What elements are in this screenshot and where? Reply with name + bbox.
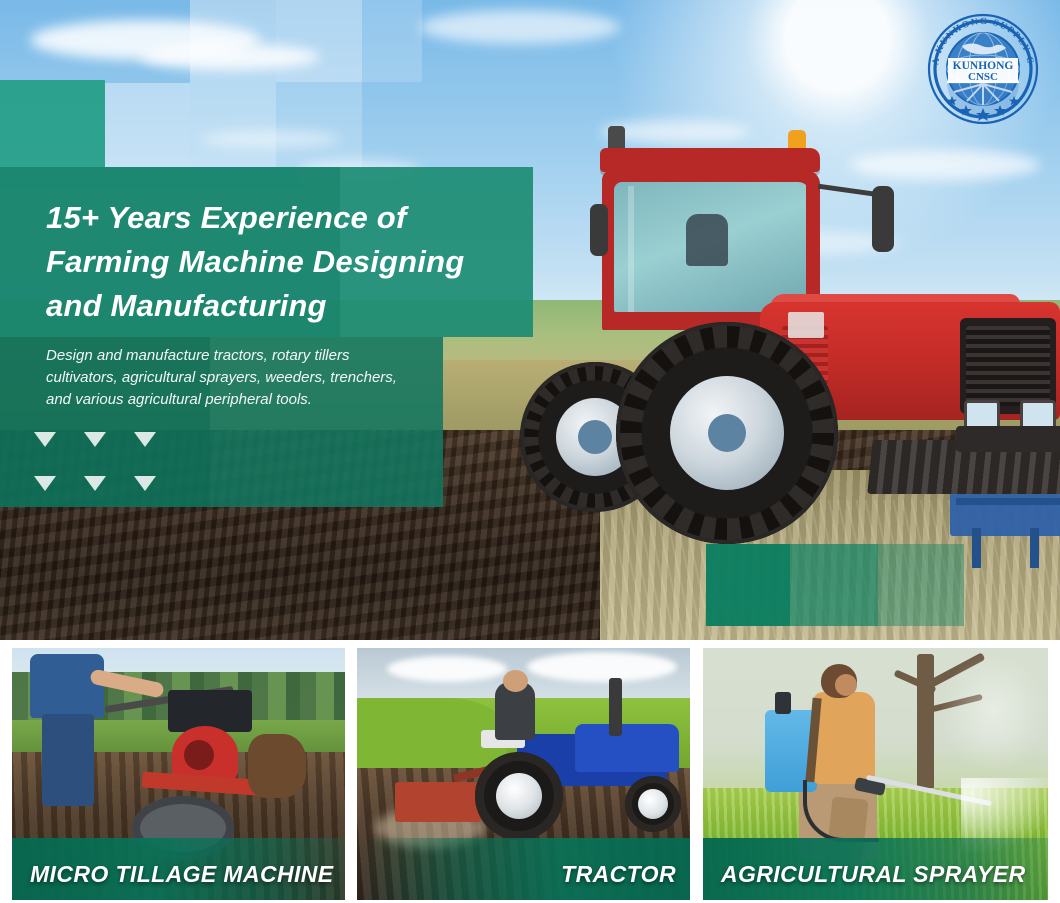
accent-block: [706, 544, 790, 626]
chevron-down-icon: [34, 432, 56, 447]
operator-torso: [813, 692, 875, 784]
cloud: [527, 652, 677, 682]
logo-center-line2: CNSC: [968, 71, 998, 83]
chevron-decoration: [22, 418, 180, 510]
card-caption-text: AGRICULTURAL SPRAYER: [721, 861, 1025, 888]
mosaic-block: [362, 0, 422, 82]
front-wheel: [625, 776, 681, 832]
product-card-micro-tillage-machine[interactable]: MICRO TILLAGE MACHINE: [12, 648, 345, 900]
grille-lines: [966, 326, 1050, 406]
operator-legs: [42, 714, 94, 806]
mosaic-block: [276, 0, 362, 82]
product-card-tractor[interactable]: TRACTOR: [357, 648, 690, 900]
plough-leg: [972, 528, 981, 568]
description-line-1: Design and manufacture tractors, rotary …: [46, 345, 476, 367]
cloud: [420, 10, 620, 44]
mosaic-block: [105, 83, 190, 167]
sprayer-tank-cap: [775, 692, 791, 714]
mosaic-block: [0, 80, 105, 167]
product-card-row: MICRO TILLAGE MACHINE: [0, 648, 1060, 903]
plough-leg: [1030, 528, 1039, 568]
hero-section: 15+ Years Experience of Farming Machine …: [0, 0, 1060, 640]
recoil-starter: [184, 740, 214, 770]
card-caption-text: MICRO TILLAGE MACHINE: [30, 861, 334, 888]
hero-description: Design and manufacture tractors, rotary …: [46, 345, 476, 411]
driver-silhouette: [686, 214, 728, 266]
promo-banner: 15+ Years Experience of Farming Machine …: [0, 0, 1060, 903]
description-line-2: cultivators, agricultural sprayers, weed…: [46, 367, 476, 389]
cloud: [387, 656, 507, 682]
card-caption-text: TRACTOR: [561, 861, 676, 888]
rear-wheel: [475, 752, 563, 840]
front-bumper: [956, 426, 1060, 452]
company-logo: KUNHONG CNSC CHINA KUNHONG SUPPLY CHAIN: [926, 12, 1040, 126]
tractor-hood: [575, 724, 679, 772]
side-mirror: [590, 204, 608, 256]
headline-line-1: 15+ Years Experience of: [46, 196, 566, 240]
tree-trunk: [917, 654, 934, 804]
side-mirror: [872, 186, 894, 252]
accent-block: [878, 544, 964, 626]
chevron-down-icon: [84, 476, 106, 491]
wheel-hub: [578, 420, 612, 454]
wheel-rim: [496, 773, 542, 819]
mosaic-block: [190, 0, 276, 167]
headline-line-2: Farming Machine Designing: [46, 240, 566, 284]
operator-torso: [30, 654, 104, 718]
wheel-rim: [638, 789, 668, 819]
cab-glass-divider: [628, 186, 634, 312]
rotary-tiller: [395, 782, 481, 822]
chevron-down-icon: [134, 476, 156, 491]
accent-block: [790, 544, 878, 626]
plough-bar: [956, 498, 1060, 505]
page-title: 15+ Years Experience of Farming Machine …: [46, 196, 566, 328]
tiller-blade-assembly: [248, 734, 306, 798]
chevron-down-icon: [34, 476, 56, 491]
rear-wheel: [616, 322, 838, 544]
cab-pillar: [806, 182, 813, 312]
headline-line-3: and Manufacturing: [46, 284, 566, 328]
chevron-down-icon: [134, 432, 156, 447]
mirror-arm: [818, 184, 880, 198]
chevron-down-icon: [84, 432, 106, 447]
hood-decal: [788, 312, 824, 338]
operator-face: [835, 674, 857, 696]
product-card-agricultural-sprayer[interactable]: AGRICULTURAL SPRAYER: [703, 648, 1048, 900]
exhaust-stack: [609, 678, 622, 736]
wheel-hub: [708, 414, 746, 452]
tractor-image: [520, 130, 1060, 530]
driver-head: [503, 670, 528, 692]
mosaic-block: [276, 82, 362, 167]
description-line-3: and various agricultural peripheral tool…: [46, 389, 476, 411]
cab-roof: [600, 148, 820, 172]
background-mist: [939, 652, 1048, 772]
